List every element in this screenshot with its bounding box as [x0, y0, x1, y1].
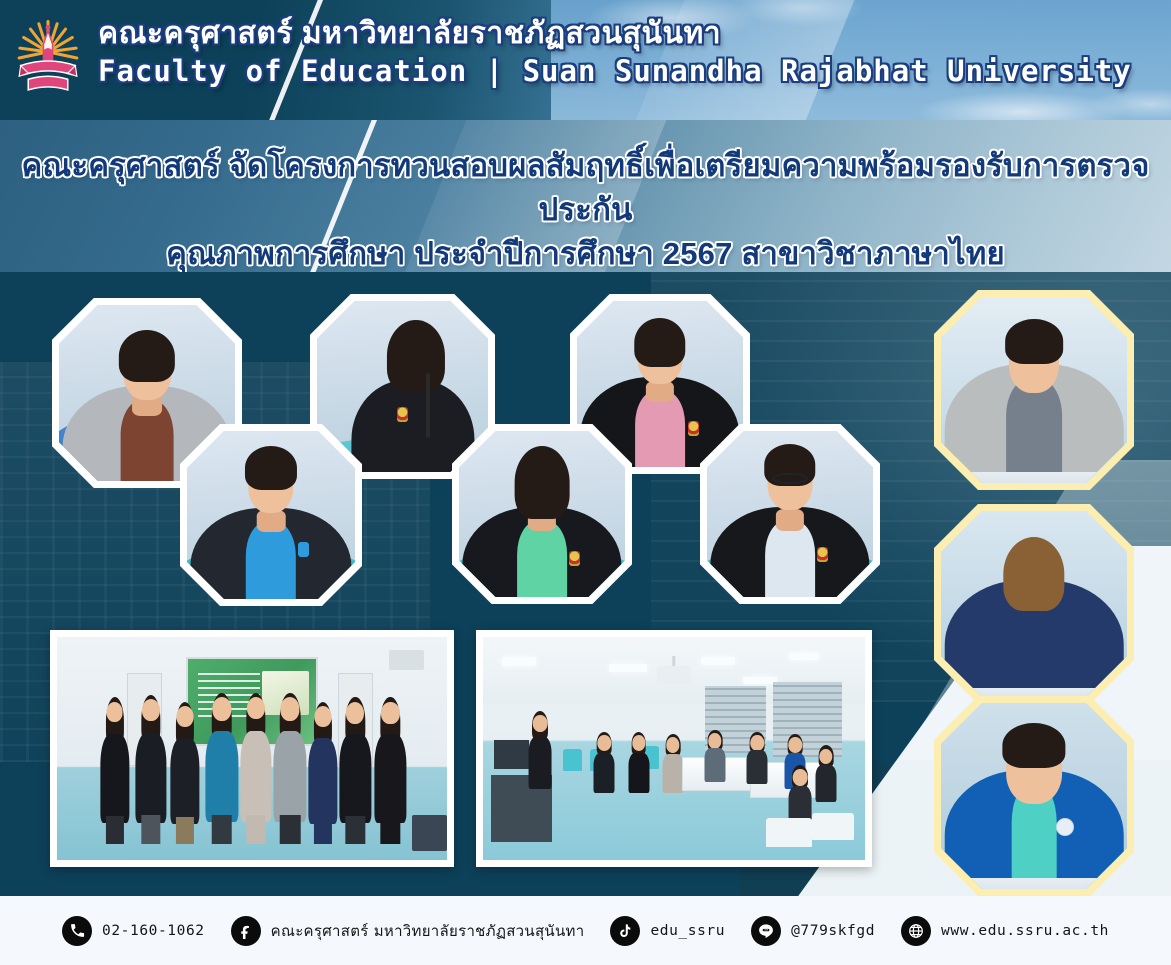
contact-website-label: www.edu.ssru.ac.th — [941, 923, 1109, 939]
header-title-thai: คณะครุศาสตร์ มหาวิทยาลัยราชภัฏสวนสุนันทา — [98, 18, 1132, 50]
ssru-emblem-logo — [10, 12, 86, 104]
photo-gallery-area — [0, 272, 1171, 896]
poster-canvas: คณะครุศาสตร์ มหาวิทยาลัยราชภัฏสวนสุนันทา… — [0, 0, 1171, 965]
contact-phone[interactable]: 02-160-1062 — [62, 916, 205, 946]
line-icon: LINE — [751, 916, 781, 946]
banner-line-2: คุณภาพการศึกษา ประจำปีการศึกษา 2567 สาขา… — [0, 232, 1171, 272]
portrait-woman-navy-blouse-seated — [934, 504, 1134, 704]
header-title-block: คณะครุศาสตร์ มหาวิทยาลัยราชภัฏสวนสุนันทา… — [98, 18, 1132, 88]
group-photo-meeting-room — [50, 630, 454, 867]
portrait-man-blue-shirt-dark-blazer — [180, 424, 362, 606]
announcement-banner: คณะครุศาสตร์ จัดโครงการทวนสอบผลสัมฤทธิ์เ… — [0, 120, 1171, 272]
contact-facebook[interactable]: คณะครุศาสตร์ มหาวิทยาลัยราชภัฏสวนสุนันทา — [231, 916, 585, 946]
contact-tiktok[interactable]: edu_ssru — [610, 916, 725, 946]
contact-footer: 02-160-1062 คณะครุศาสตร์ มหาวิทยาลัยราชภ… — [0, 896, 1171, 965]
contact-line-label: @779skfgd — [791, 923, 875, 939]
phone-icon — [62, 916, 92, 946]
seminar-room-presentation — [476, 630, 872, 867]
contact-tiktok-label: edu_ssru — [650, 923, 725, 939]
header-title-english: Faculty of Education | Suan Sunandha Raj… — [98, 56, 1132, 87]
banner-line-1: คณะครุศาสตร์ จัดโครงการทวนสอบผลสัมฤทธิ์เ… — [0, 144, 1171, 232]
portrait-woman-green-shirt-black-blazer — [452, 424, 632, 604]
contact-website[interactable]: www.edu.ssru.ac.th — [901, 916, 1109, 946]
tiktok-icon — [610, 916, 640, 946]
contact-phone-label: 02-160-1062 — [102, 923, 205, 939]
portrait-man-grey-blazer-seated — [934, 290, 1134, 490]
portrait-man-glasses-dark-blazer — [700, 424, 880, 604]
banner-text-block: คณะครุศาสตร์ จัดโครงการทวนสอบผลสัมฤทธิ์เ… — [0, 144, 1171, 272]
facebook-icon — [231, 916, 261, 946]
globe-icon — [901, 916, 931, 946]
contact-line[interactable]: LINE @779skfgd — [751, 916, 875, 946]
portrait-man-blue-jacket-seated — [934, 696, 1134, 896]
contact-facebook-label: คณะครุศาสตร์ มหาวิทยาลัยราชภัฏสวนสุนันทา — [271, 919, 585, 943]
